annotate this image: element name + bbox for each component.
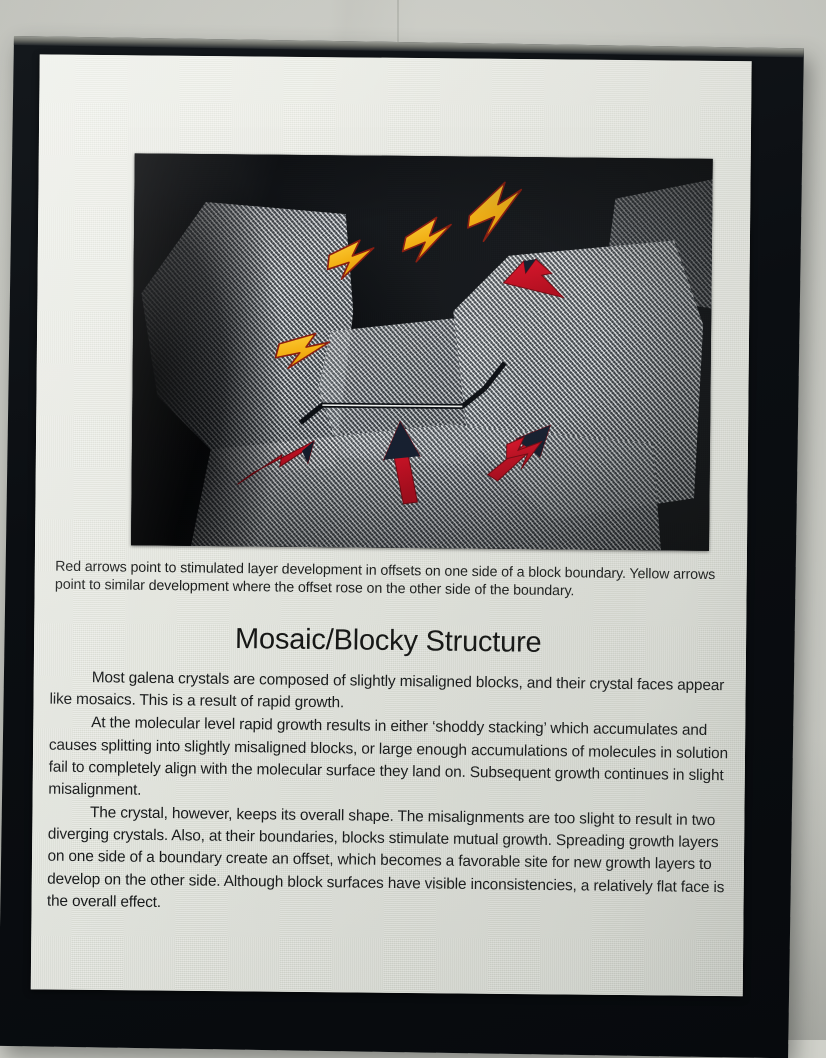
printed-page: Red arrows point to stimulated layer dev… [31,54,752,996]
poster-board: Red arrows point to stimulated layer dev… [0,36,804,1058]
paper-lighting-gradient [31,54,752,996]
